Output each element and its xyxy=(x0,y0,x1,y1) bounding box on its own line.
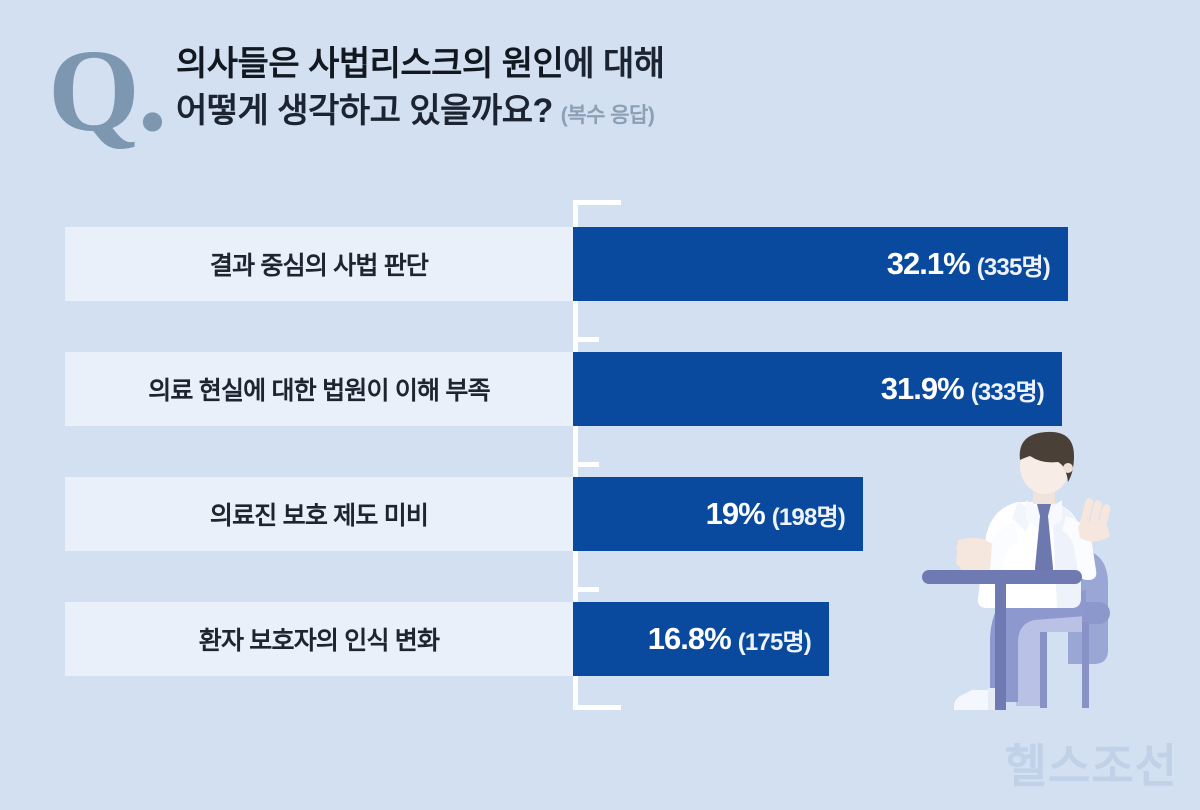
bar-count-value: (333명) xyxy=(971,372,1044,407)
doctor-at-desk-illustration xyxy=(900,430,1190,720)
bar-category-text: 의료진 보호 제도 미비 xyxy=(210,496,428,532)
bar-count-value: (335명) xyxy=(977,247,1050,282)
bar-segment: 19% (198명) xyxy=(573,477,863,551)
bar-category-text: 환자 보호자의 인식 변화 xyxy=(199,621,439,657)
bar-category-label: 결과 중심의 사법 판단 xyxy=(65,227,573,301)
bar-count-value: (198명) xyxy=(772,497,845,532)
bar-percent-value: 16.8% xyxy=(648,621,731,657)
bar-segment: 32.1% (335명) xyxy=(573,227,1068,301)
bar-category-label: 의료진 보호 제도 미비 xyxy=(65,477,573,551)
axis-tick-3 xyxy=(573,587,599,592)
axis-tick-1 xyxy=(573,337,599,342)
bar-category-label: 의료 현실에 대한 법원이 이해 부족 xyxy=(65,352,573,426)
bar-percent-value: 31.9% xyxy=(881,371,964,407)
axis-tick-2 xyxy=(573,462,599,467)
bar-category-text: 결과 중심의 사법 판단 xyxy=(210,246,428,282)
publisher-logo: 헬스조선 xyxy=(1005,730,1178,796)
bar-count-value: (175명) xyxy=(738,622,811,657)
bar-category-label: 환자 보호자의 인식 변화 xyxy=(65,602,573,676)
bar-category-text: 의료 현실에 대한 법원이 이해 부족 xyxy=(148,371,490,407)
axis-tick-top xyxy=(573,200,621,205)
bar-percent-value: 19% xyxy=(706,496,765,532)
bar-segment: 16.8% (175명) xyxy=(573,602,829,676)
bar-segment: 31.9% (333명) xyxy=(573,352,1062,426)
axis-tick-bottom xyxy=(573,705,621,710)
bar-percent-value: 32.1% xyxy=(887,246,970,282)
